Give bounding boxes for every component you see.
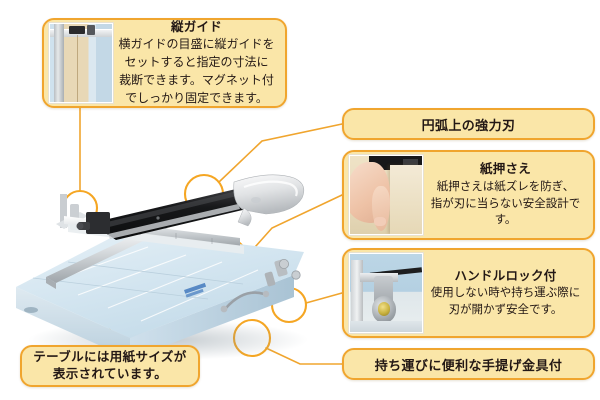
callout-line: 刃が開かず安全です。: [427, 302, 584, 318]
callout-handle-lock: ハンドルロック付 使用しない時や持ち運ぶ際に 刃が開かず安全です。: [342, 248, 595, 338]
callout-line: テーブルには用紙サイズが: [32, 349, 188, 366]
callout-line: でしっかり固定できます。: [117, 90, 276, 107]
paper-press-thumbnail: [349, 155, 423, 235]
callout-line: 表示されています。: [32, 366, 188, 383]
blade-arm-rivet: [156, 216, 159, 219]
callout-paper-press: 紙押さえ 紙押さえは紙ズレを防ぎ、 指が刃に当らない安全設計です。: [342, 150, 595, 240]
callout-title: 紙押さえ: [427, 161, 584, 177]
callout-title: 縦ガイド: [117, 19, 276, 35]
callout-title: 円弧上の強力刃: [354, 115, 583, 134]
carry-handle-anchor-left: [221, 306, 228, 313]
foot-left: [24, 307, 38, 313]
carry-handle-anchor-right: [263, 291, 269, 297]
product-feature-diagram: 縦ガイド 横ガイドの目盛に縦ガイドを セットすると指定の寸法に 裁断できます。マ…: [0, 0, 600, 400]
callout-vertical-guide: 縦ガイド 横ガイドの目盛に縦ガイドを セットすると指定の寸法に 裁断できます。マ…: [42, 18, 287, 108]
callout-strong-blade: 円弧上の強力刃: [342, 108, 595, 140]
callout-title: 持ち運びに便利な手提げ金具付: [354, 355, 583, 374]
callout-line: セットすると指定の寸法に: [117, 54, 276, 71]
paper-trimmer-photo: [8, 112, 338, 362]
cutter-handle: [234, 175, 304, 226]
callout-line: 裁断できます。マグネット付: [117, 72, 276, 89]
callout-table-paper-size: テーブルには用紙サイズが 表示されています。: [20, 345, 200, 387]
callout-line: 指が刃に当らない安全設計です。: [427, 196, 584, 229]
callout-line: 横ガイドの目盛に縦ガイドを: [117, 36, 276, 53]
handle-lock-thumbnail: [349, 253, 423, 333]
callout-line: 使用しない時や持ち運ぶ際に: [427, 285, 584, 301]
callout-carry-handle: 持ち運びに便利な手提げ金具付: [342, 348, 595, 380]
callout-title: ハンドルロック付: [427, 268, 584, 284]
callout-line: 紙押さえは紙ズレを防ぎ、: [427, 179, 584, 195]
vertical-guide-thumbnail: [49, 23, 113, 103]
